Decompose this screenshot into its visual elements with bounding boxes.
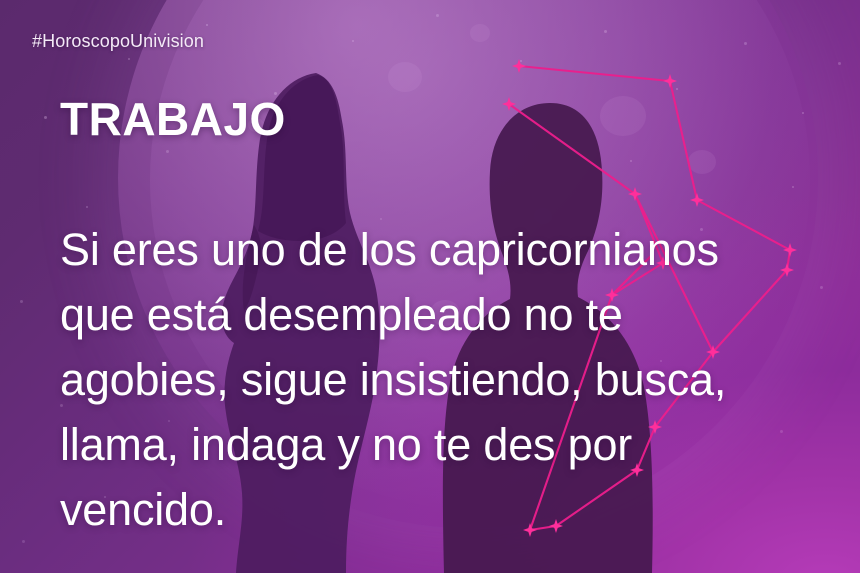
moon-crater: [470, 24, 490, 42]
body-line: Si eres uno de los capricornianos: [60, 217, 850, 282]
body-line: agobies, sigue insistiendo, busca,: [60, 347, 850, 412]
hashtag-label: #HoroscopoUnivision: [32, 31, 204, 52]
moon-crater: [688, 150, 716, 174]
page-title: TRABAJO: [60, 96, 286, 142]
horoscope-card: #HoroscopoUnivision TRABAJO Si eres uno …: [0, 0, 860, 573]
body-line: llama, indaga y no te des por: [60, 412, 850, 477]
horoscope-body-text: Si eres uno de los capricornianos que es…: [60, 217, 850, 542]
body-line: que está desempleado no te: [60, 282, 850, 347]
body-line: vencido.: [60, 477, 850, 542]
